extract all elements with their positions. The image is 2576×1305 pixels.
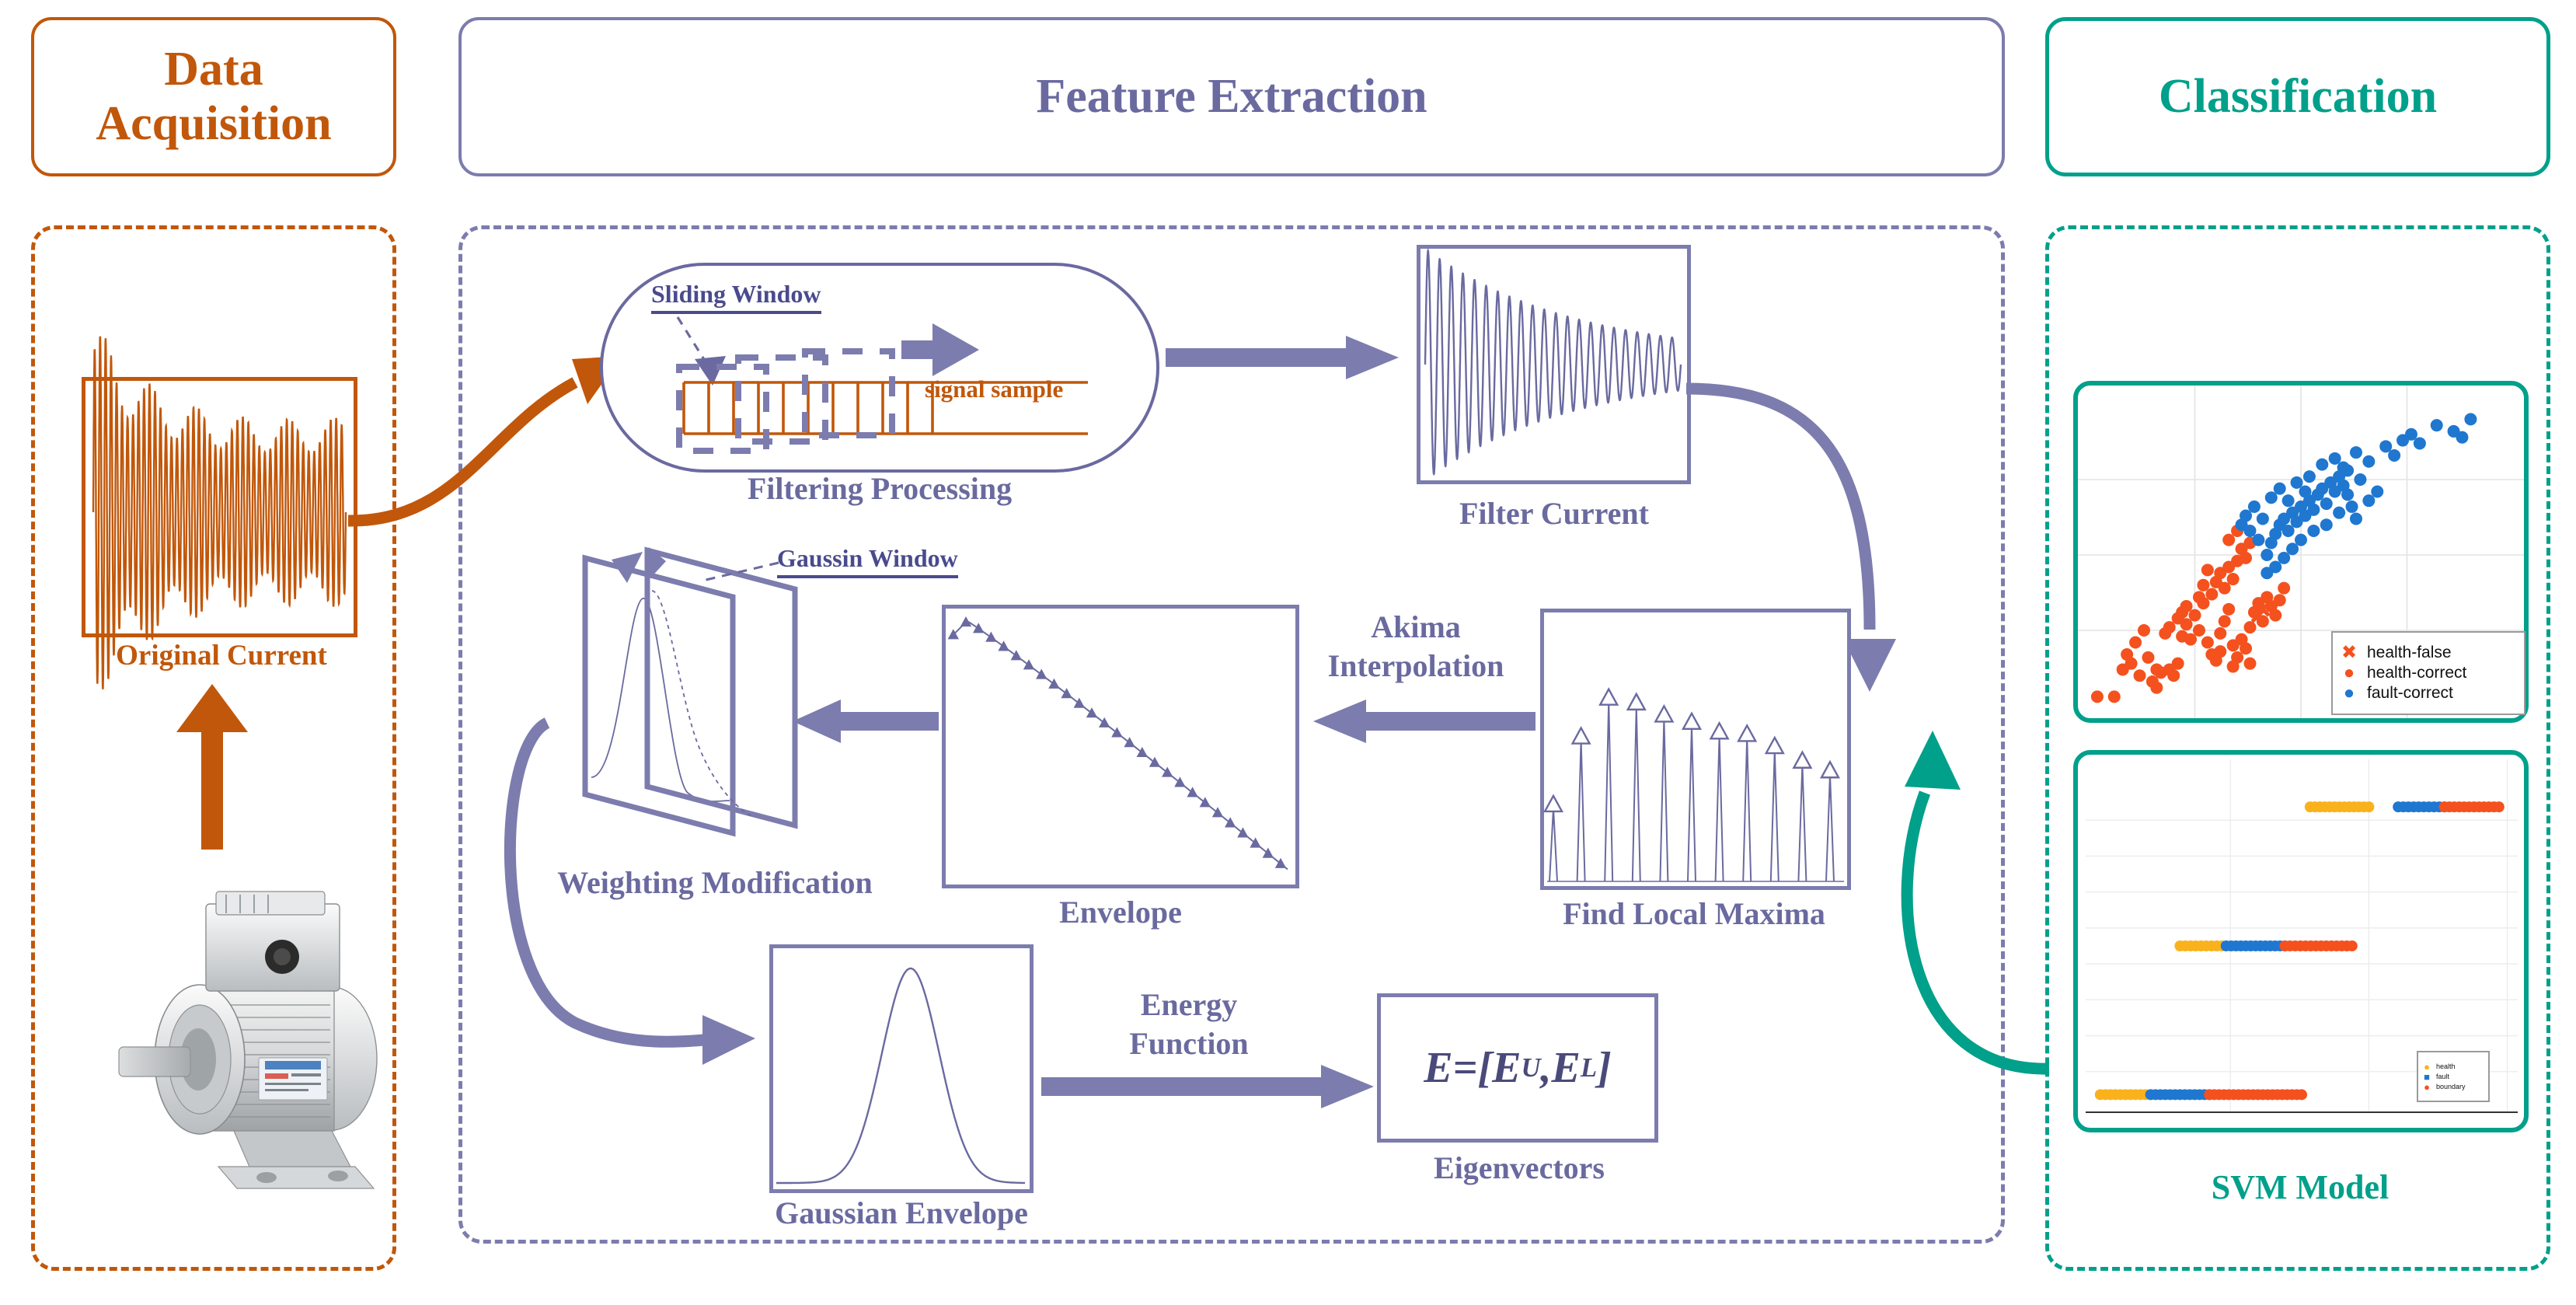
induction-motor-icon: [82, 874, 400, 1209]
marker-icon: ●: [2341, 664, 2358, 682]
envelope-curve: [946, 609, 1295, 885]
akima-interpolation-label: AkimaInterpolation: [1299, 608, 1532, 686]
legend-item: ● boundary: [2418, 1082, 2488, 1092]
arrow-filtering-to-filter-current: [1166, 336, 1407, 382]
envelope-plot: [942, 605, 1299, 888]
legend-label: fault: [2436, 1073, 2449, 1080]
marker-icon: ●: [2422, 1082, 2431, 1092]
legend-item: ● fault-correct: [2333, 683, 2524, 703]
svm-legend-upper: ✖ health-false ● health-correct ● fault-…: [2331, 631, 2525, 715]
legend-item: ● health-correct: [2333, 663, 2524, 683]
sliding-window-diagram: [668, 311, 1135, 466]
eigenvectors-box: E=[EU,EL]: [1377, 993, 1658, 1143]
marker-icon: ✖: [2341, 644, 2358, 662]
filter-current-waveform: [1420, 249, 1687, 480]
original-current-caption: Original Current: [66, 641, 377, 672]
filter-current-plot: [1417, 245, 1691, 484]
gaussian-envelope-caption: Gaussian Envelope: [723, 1197, 1080, 1230]
arrow-to-eigenvectors: [1041, 1065, 1375, 1111]
signal-sample-label: signal sample: [925, 375, 1063, 403]
svm-legend-lower: ● health ■ fault ● boundary: [2417, 1051, 2490, 1102]
header-classification-label: Classification: [2159, 70, 2437, 124]
eigenvectors-caption: Eigenvectors: [1337, 1152, 1702, 1185]
legend-item: ● health: [2418, 1062, 2488, 1072]
marker-icon: ●: [2422, 1062, 2431, 1072]
svm-model-caption: SVM Model: [2098, 1170, 2502, 1206]
original-current-plot: [82, 377, 357, 637]
marker-icon: ●: [2341, 684, 2358, 703]
header-feature-extraction-label: Feature Extraction: [1036, 70, 1427, 124]
gaussian-curve: [773, 948, 1030, 1189]
original-current-waveform: [85, 381, 354, 633]
gaussin-window-pointer: [692, 558, 785, 589]
legend-label: boundary: [2436, 1083, 2466, 1090]
arrow-weighting-to-gaussian: [482, 723, 777, 1096]
marker-icon: ■: [2422, 1072, 2431, 1082]
legend-label: health-correct: [2367, 664, 2466, 682]
header-classification: Classification: [2045, 17, 2550, 176]
legend-label: health-false: [2367, 644, 2452, 662]
legend-item: ■ fault: [2418, 1072, 2488, 1082]
gaussin-window-label: Gaussin Window: [777, 544, 958, 578]
header-data-acquisition-label: DataAcquisition: [96, 43, 331, 151]
eigenvector-formula: E=[EU,EL]: [1381, 997, 1654, 1139]
legend-label: health: [2436, 1062, 2456, 1070]
arrow-maxima-to-envelope: [1313, 700, 1539, 746]
gaussian-envelope-plot: [769, 944, 1034, 1193]
filtering-processing-caption: Filtering Processing: [662, 473, 1097, 505]
energy-function-label: EnergyFunction: [1084, 986, 1294, 1063]
legend-item: ✖ health-false: [2333, 643, 2524, 663]
header-feature-extraction: Feature Extraction: [458, 17, 2005, 176]
legend-label: fault-correct: [2367, 684, 2453, 703]
sliding-window-label: Sliding Window: [651, 280, 821, 314]
envelope-caption: Envelope: [1004, 896, 1237, 929]
header-data-acquisition: DataAcquisition: [31, 17, 396, 176]
filter-current-caption: Filter Current: [1391, 497, 1717, 530]
arrow-eigenvectors-to-classification: [1651, 700, 2055, 1088]
arrow-motor-to-signal: [167, 684, 260, 851]
